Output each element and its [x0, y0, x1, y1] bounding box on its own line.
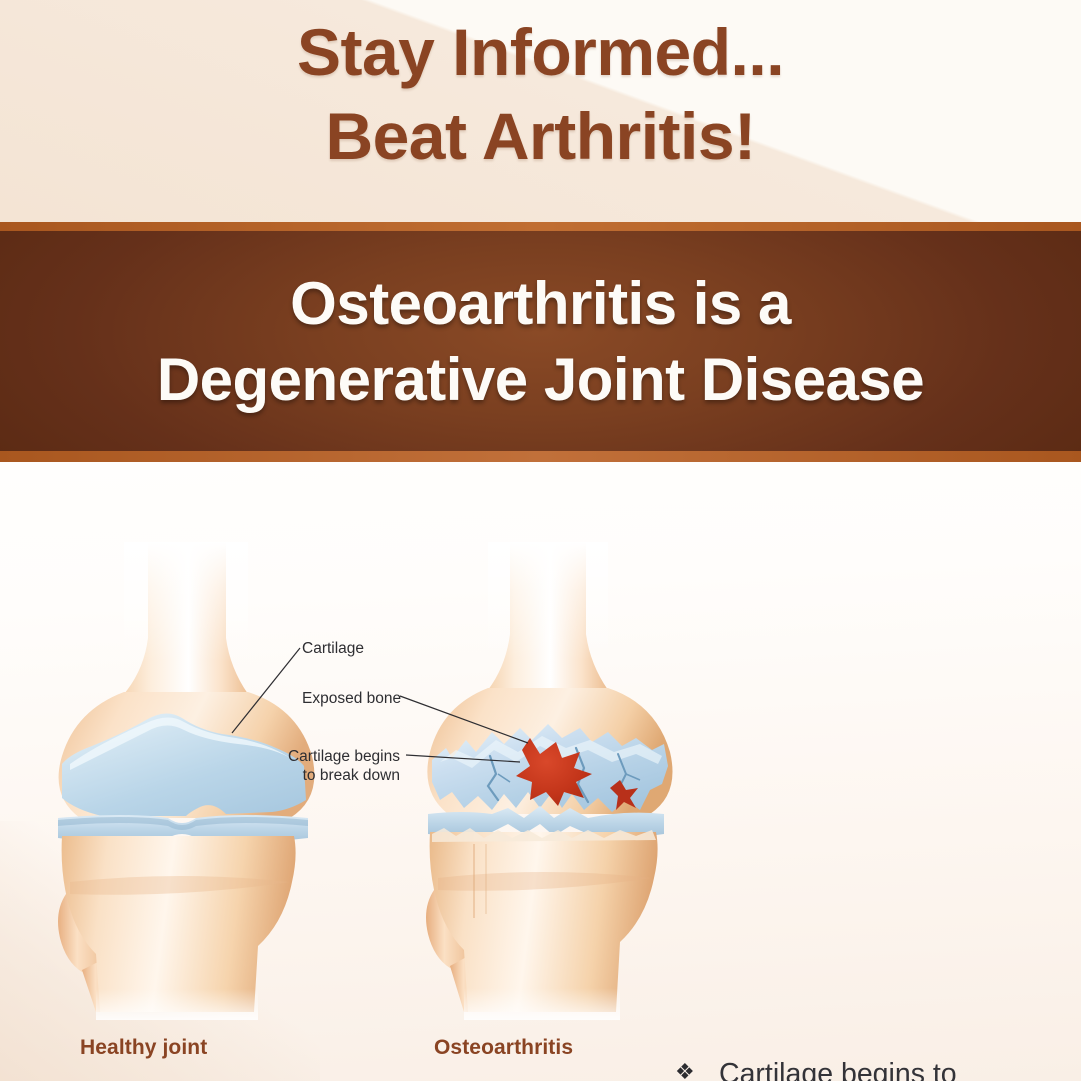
leader-line-cartilage-breakdown — [406, 755, 520, 762]
callout-exposed-bone: Exposed bone — [302, 690, 401, 709]
diamond-bullet-icon: ❖ — [675, 1054, 719, 1081]
leader-line-cartilage — [232, 648, 300, 733]
callout-cartilage: Cartilage — [302, 640, 364, 659]
leader-line-exposed-bone — [400, 696, 528, 743]
callout-breakdown-line-1: Cartilage begins — [178, 748, 400, 767]
banner-section: Osteoarthritis is a Degenerative Joint D… — [0, 222, 1081, 462]
banner-heading-line-1: Osteoarthritis is a — [290, 266, 791, 342]
callout-exposed-bone-label: Exposed bone — [302, 690, 401, 707]
content-section: Cartilage Exposed bone Cartilage begins … — [0, 462, 1081, 1081]
callout-breakdown-line-2: to break down — [178, 767, 400, 786]
symptom-list: ❖ Cartilage begins to break down ❖ Under… — [675, 1054, 1075, 1081]
banner-top-edge — [0, 222, 1081, 231]
caption-healthy-joint: Healthy joint — [80, 1036, 207, 1060]
caption-osteoarthritis: Osteoarthritis — [434, 1036, 573, 1060]
page-title-line-2: Beat Arthritis! — [325, 94, 755, 178]
list-item: ❖ Cartilage begins to break down — [675, 1054, 1075, 1081]
header-section: Stay Informed... Beat Arthritis! — [0, 0, 1081, 222]
callout-cartilage-breakdown: Cartilage begins to break down — [178, 748, 400, 786]
banner-heading-line-2: Degenerative Joint Disease — [157, 342, 924, 418]
banner-bottom-edge — [0, 451, 1081, 462]
callout-cartilage-label: Cartilage — [302, 640, 364, 657]
page-title-line-1: Stay Informed... — [297, 10, 784, 94]
callout-leader-lines — [0, 462, 1081, 1081]
list-item-label: Cartilage begins to break down — [719, 1054, 1019, 1081]
